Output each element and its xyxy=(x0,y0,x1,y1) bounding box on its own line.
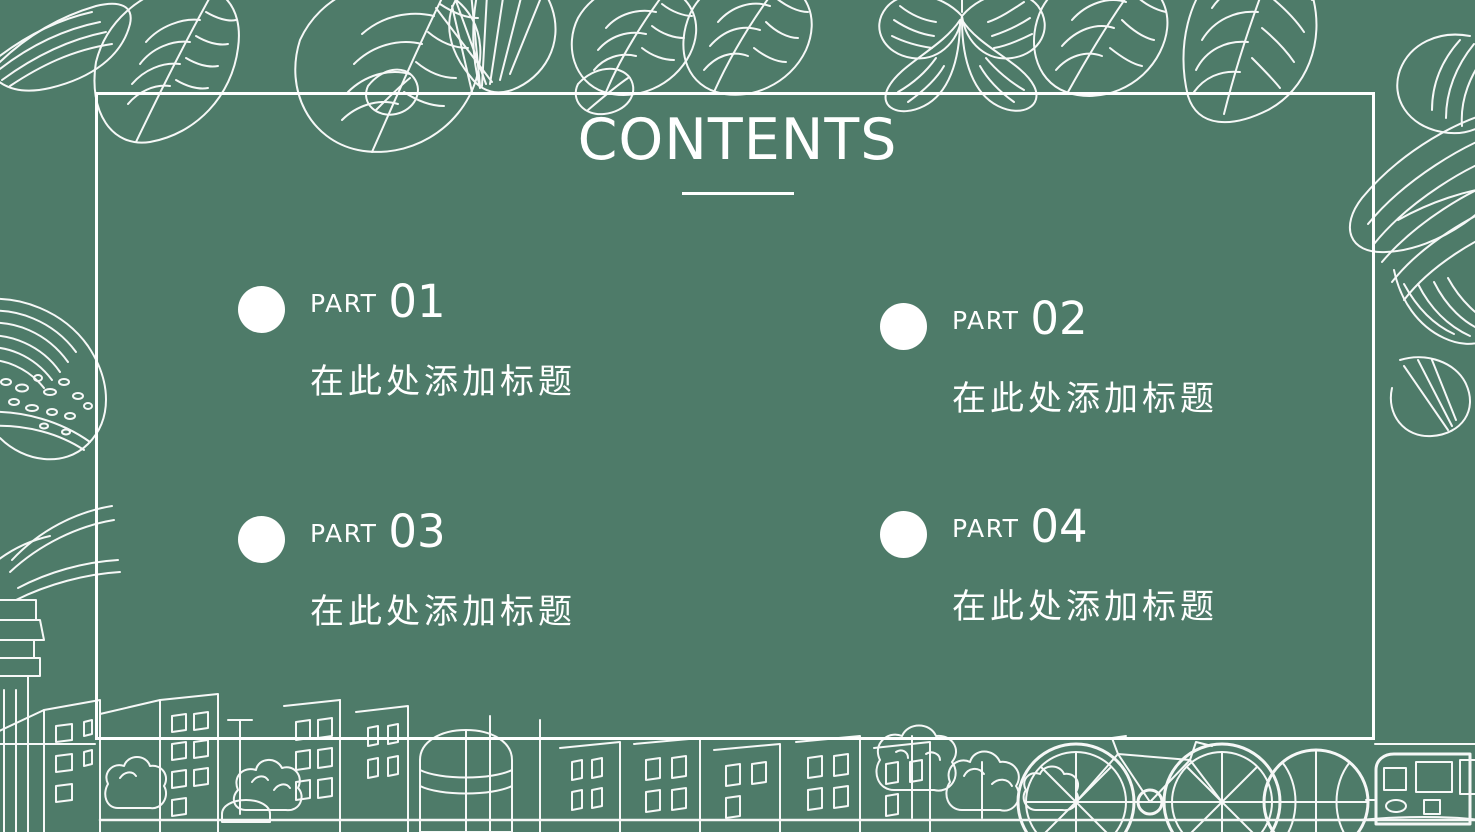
contents-item-heading: PART 03 xyxy=(310,508,735,558)
bullet-circle-icon xyxy=(238,286,285,333)
butterfly-wing-left xyxy=(0,299,106,459)
fan-leaf xyxy=(436,0,556,92)
bicycle-bottom xyxy=(1018,736,1280,832)
veined-leaf-5 xyxy=(1034,0,1167,96)
contents-item-subtitle: 在此处添加标题 xyxy=(952,371,1375,420)
building-far-left xyxy=(0,700,100,832)
contents-item-heading: PART 01 xyxy=(310,278,735,328)
contents-list: PART 01 在此处添加标题 PART 02 在此处添加标题 PART 03 … xyxy=(95,270,1375,690)
part-number: 02 xyxy=(1030,296,1087,341)
part-label: PART xyxy=(310,291,377,316)
slide-canvas: CONTENTS PART 01 在此处添加标题 PART 02 在此处添加标题… xyxy=(0,0,1475,832)
bullet-circle-icon xyxy=(238,516,285,563)
part-label: PART xyxy=(952,516,1019,541)
leaf-striped-topleft xyxy=(0,4,131,91)
contents-item-subtitle: 在此处添加标题 xyxy=(310,584,735,633)
part-label: PART xyxy=(952,308,1019,333)
title-underline xyxy=(682,192,794,195)
page-title: CONTENTS xyxy=(0,112,1475,169)
bus-bottom-right xyxy=(1360,754,1475,824)
contents-item-heading: PART 02 xyxy=(952,295,1375,345)
contents-item-01[interactable]: PART 01 在此处添加标题 xyxy=(95,270,735,480)
contents-item-04[interactable]: PART 04 在此处添加标题 xyxy=(735,480,1375,690)
part-number: 03 xyxy=(388,509,445,554)
veined-leaf-4 xyxy=(683,0,811,95)
veined-leaf-3 xyxy=(572,0,696,95)
fan-leaf-right-lower xyxy=(1391,357,1470,436)
contents-item-subtitle: 在此处添加标题 xyxy=(310,354,735,403)
title-block: CONTENTS xyxy=(0,112,1475,195)
contents-item-02[interactable]: PART 02 在此处添加标题 xyxy=(735,270,1375,480)
part-number: 04 xyxy=(1030,504,1087,549)
contents-item-heading: PART 04 xyxy=(952,503,1375,553)
contents-item-03[interactable]: PART 03 在此处添加标题 xyxy=(95,480,735,690)
part-number: 01 xyxy=(388,279,445,324)
bullet-circle-icon xyxy=(880,303,927,350)
bullet-circle-icon xyxy=(880,511,927,558)
basketball-bottom xyxy=(1264,750,1368,832)
part-label: PART xyxy=(310,521,377,546)
contents-item-subtitle: 在此处添加标题 xyxy=(952,579,1375,628)
